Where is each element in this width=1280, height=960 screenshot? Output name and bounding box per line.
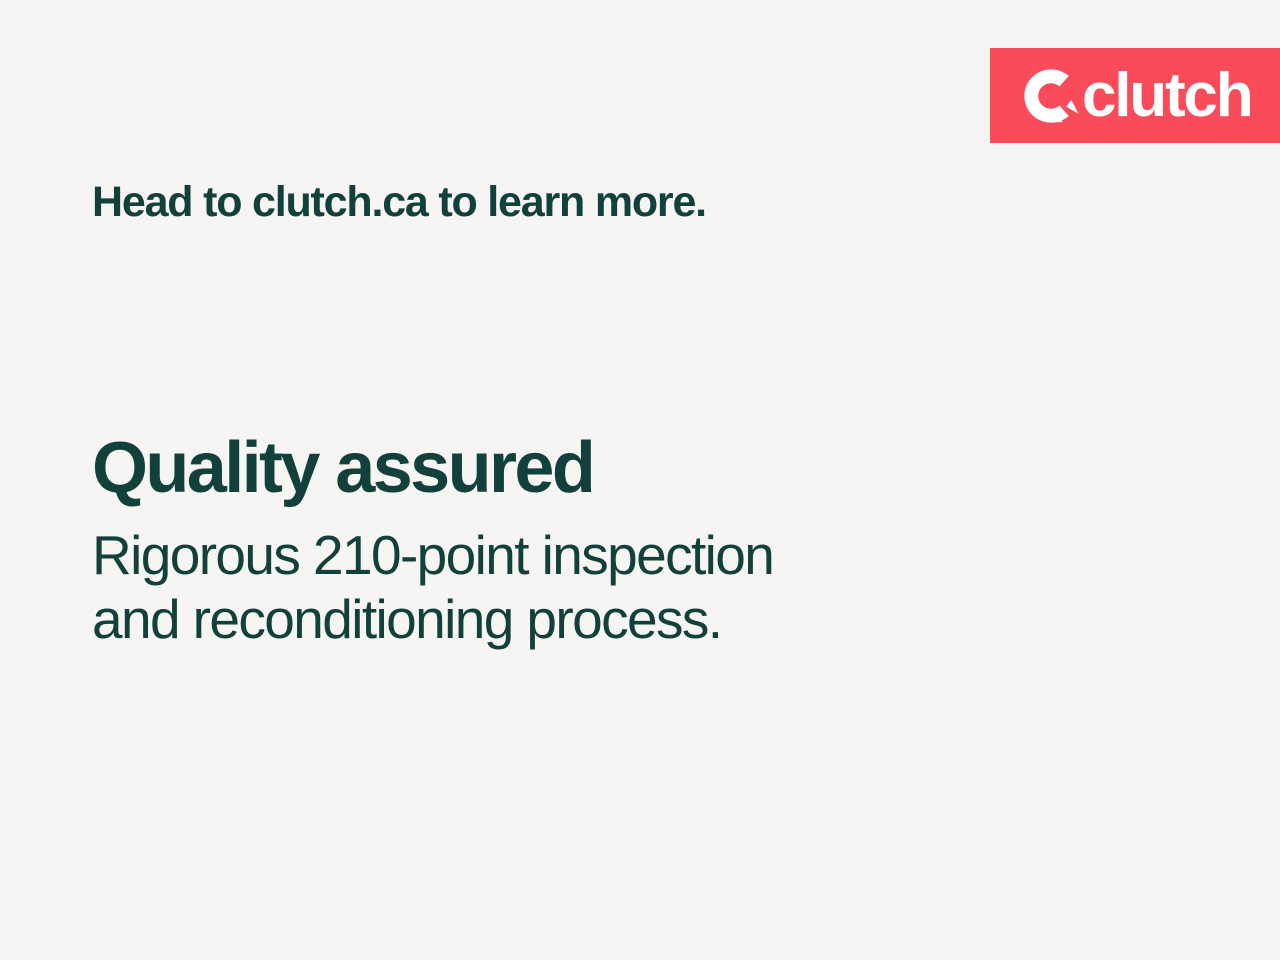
slide-canvas: clutch Head to clutch.ca to learn more. … xyxy=(0,0,1280,960)
headline: Quality assured xyxy=(92,432,992,504)
clutch-c-mark-icon xyxy=(1020,65,1082,127)
brand-wordmark: clutch xyxy=(1082,65,1251,127)
subcopy-line-1: Rigorous 210-point inspection xyxy=(92,524,992,588)
kicker-text: Head to clutch.ca to learn more. xyxy=(92,178,706,226)
brand-lockup: clutch xyxy=(1020,65,1251,127)
subcopy: Rigorous 210-point inspection and recond… xyxy=(92,524,992,652)
brand-logo-block[interactable]: clutch xyxy=(990,48,1280,143)
subcopy-line-2: and reconditioning process. xyxy=(92,588,992,652)
message-group: Quality assured Rigorous 210-point inspe… xyxy=(92,432,992,652)
